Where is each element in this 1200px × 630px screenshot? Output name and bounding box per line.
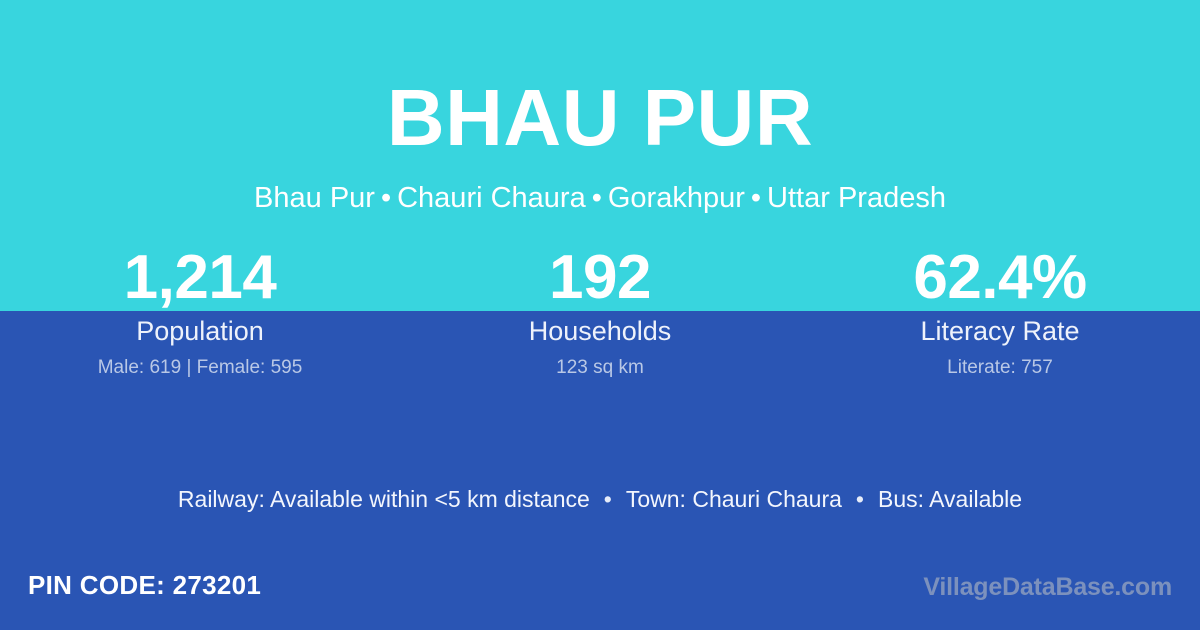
breadcrumb-separator-3: •: [745, 182, 767, 214]
stat-sub-population: Male: 619 | Female: 595: [0, 357, 400, 380]
stat-label-literacy-rate: Literacy Rate: [800, 316, 1200, 347]
amenity-separator-1: •: [590, 486, 626, 512]
amenity-separator-2: •: [842, 486, 878, 512]
breadcrumb-separator-2: •: [586, 182, 608, 214]
stat-sub-households: 123 sq km: [400, 357, 800, 380]
stat-households: 192 Households 123 sq km: [400, 245, 800, 380]
site-brand: VillageDataBase.com: [923, 572, 1172, 602]
village-title: BHAU PUR: [0, 78, 1200, 158]
amenities-row: Railway: Available within <5 km distance…: [0, 486, 1200, 514]
stats-row: 1,214 Population Male: 619 | Female: 595…: [0, 245, 1200, 380]
breadcrumb-state: Uttar Pradesh: [767, 182, 946, 214]
stat-value-literacy-rate: 62.4%: [800, 245, 1200, 310]
breadcrumb-district: Gorakhpur: [608, 182, 745, 214]
card-footer: PIN CODE: 273201 VillageDataBase.com: [0, 556, 1200, 630]
stat-sub-literacy-rate: Literate: 757: [800, 357, 1200, 380]
stat-label-population: Population: [0, 316, 400, 347]
stat-value-population: 1,214: [0, 245, 400, 310]
breadcrumb-block: Chauri Chaura: [397, 182, 586, 214]
stat-population: 1,214 Population Male: 619 | Female: 595: [0, 245, 400, 380]
breadcrumb-village: Bhau Pur: [254, 182, 375, 214]
breadcrumb-separator-1: •: [375, 182, 397, 214]
location-breadcrumb: Bhau Pur•Chauri Chaura•Gorakhpur•Uttar P…: [0, 181, 1200, 216]
amenity-railway: Railway: Available within <5 km distance: [178, 486, 590, 512]
village-info-card: BHAU PUR Bhau Pur•Chauri Chaura•Gorakhpu…: [0, 0, 1200, 630]
amenity-bus: Bus: Available: [878, 486, 1022, 512]
stat-literacy-rate: 62.4% Literacy Rate Literate: 757: [800, 245, 1200, 380]
stat-value-households: 192: [400, 245, 800, 310]
pin-code: PIN CODE: 273201: [28, 570, 261, 601]
amenity-town: Town: Chauri Chaura: [626, 486, 842, 512]
stat-label-households: Households: [400, 316, 800, 347]
